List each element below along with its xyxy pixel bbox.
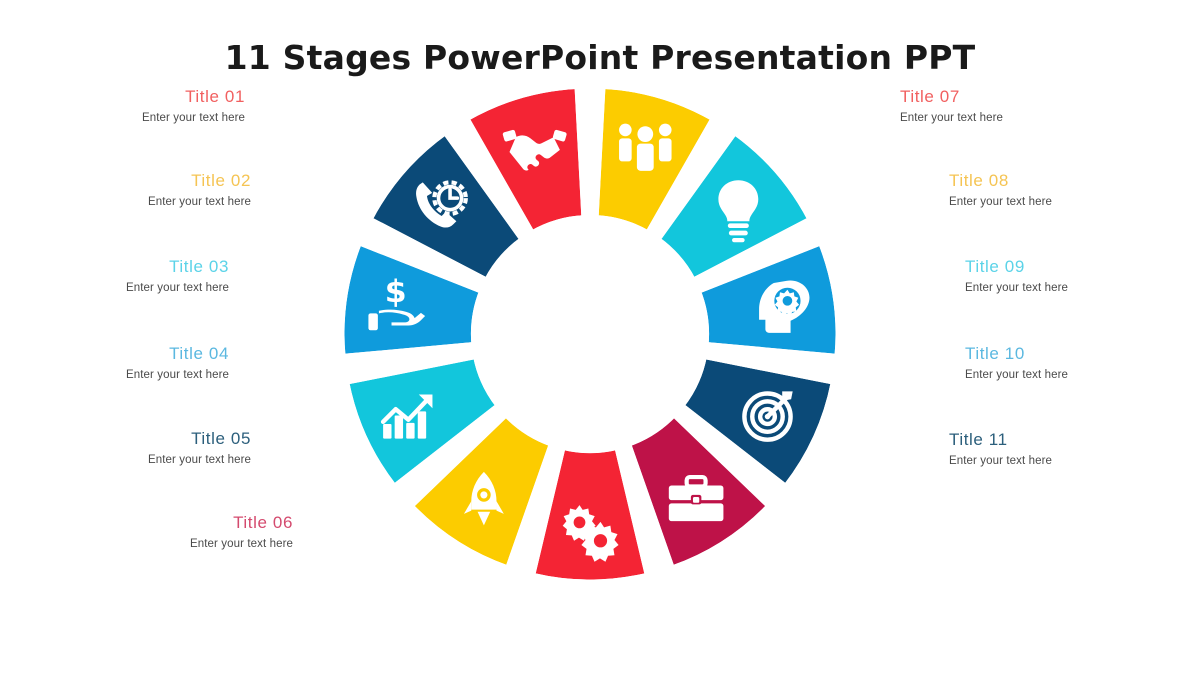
svg-text:$: $ [385, 274, 407, 310]
stage-title-09: Title 09 [965, 258, 1068, 277]
donut-diagram: $ [330, 84, 850, 584]
stage-title-11: Title 11 [949, 431, 1052, 450]
stage-title-04: Title 04 [126, 345, 229, 364]
stage-label-06[interactable]: Title 06 Enter your text here [190, 514, 293, 550]
stage-label-10[interactable]: Title 10 Enter your text here [965, 345, 1068, 381]
stage-desc-07: Enter your text here [900, 112, 1003, 125]
stage-desc-01: Enter your text here [142, 112, 245, 125]
stage-desc-05: Enter your text here [148, 454, 251, 467]
stage-desc-03: Enter your text here [126, 282, 229, 295]
stage-title-06: Title 06 [190, 514, 293, 533]
stage-title-03: Title 03 [126, 258, 229, 277]
stage-desc-10: Enter your text here [965, 369, 1068, 382]
stage-label-07[interactable]: Title 07 Enter your text here [900, 88, 1003, 124]
stage-title-10: Title 10 [965, 345, 1068, 364]
donut-center-hole [475, 219, 704, 448]
stage-label-01[interactable]: Title 01 Enter your text here [142, 88, 245, 124]
stage-title-05: Title 05 [148, 430, 251, 449]
stage-desc-08: Enter your text here [949, 196, 1052, 209]
stage-label-03[interactable]: Title 03 Enter your text here [126, 258, 229, 294]
stage-desc-06: Enter your text here [190, 538, 293, 551]
slide-canvas: 11 Stages PowerPoint Presentation PPT Ti… [0, 0, 1200, 675]
stage-desc-02: Enter your text here [148, 196, 251, 209]
stage-title-07: Title 07 [900, 88, 1003, 107]
stage-title-02: Title 02 [148, 172, 251, 191]
stage-title-08: Title 08 [949, 172, 1052, 191]
stage-desc-11: Enter your text here [949, 455, 1052, 468]
stage-title-01: Title 01 [142, 88, 245, 107]
stage-label-11[interactable]: Title 11 Enter your text here [949, 431, 1052, 467]
page-title: 11 Stages PowerPoint Presentation PPT [0, 38, 1200, 77]
stage-desc-09: Enter your text here [965, 282, 1068, 295]
stage-label-04[interactable]: Title 04 Enter your text here [126, 345, 229, 381]
stage-label-05[interactable]: Title 05 Enter your text here [148, 430, 251, 466]
stage-label-02[interactable]: Title 02 Enter your text here [148, 172, 251, 208]
stage-desc-04: Enter your text here [126, 369, 229, 382]
stage-label-09[interactable]: Title 09 Enter your text here [965, 258, 1068, 294]
stage-label-08[interactable]: Title 08 Enter your text here [949, 172, 1052, 208]
